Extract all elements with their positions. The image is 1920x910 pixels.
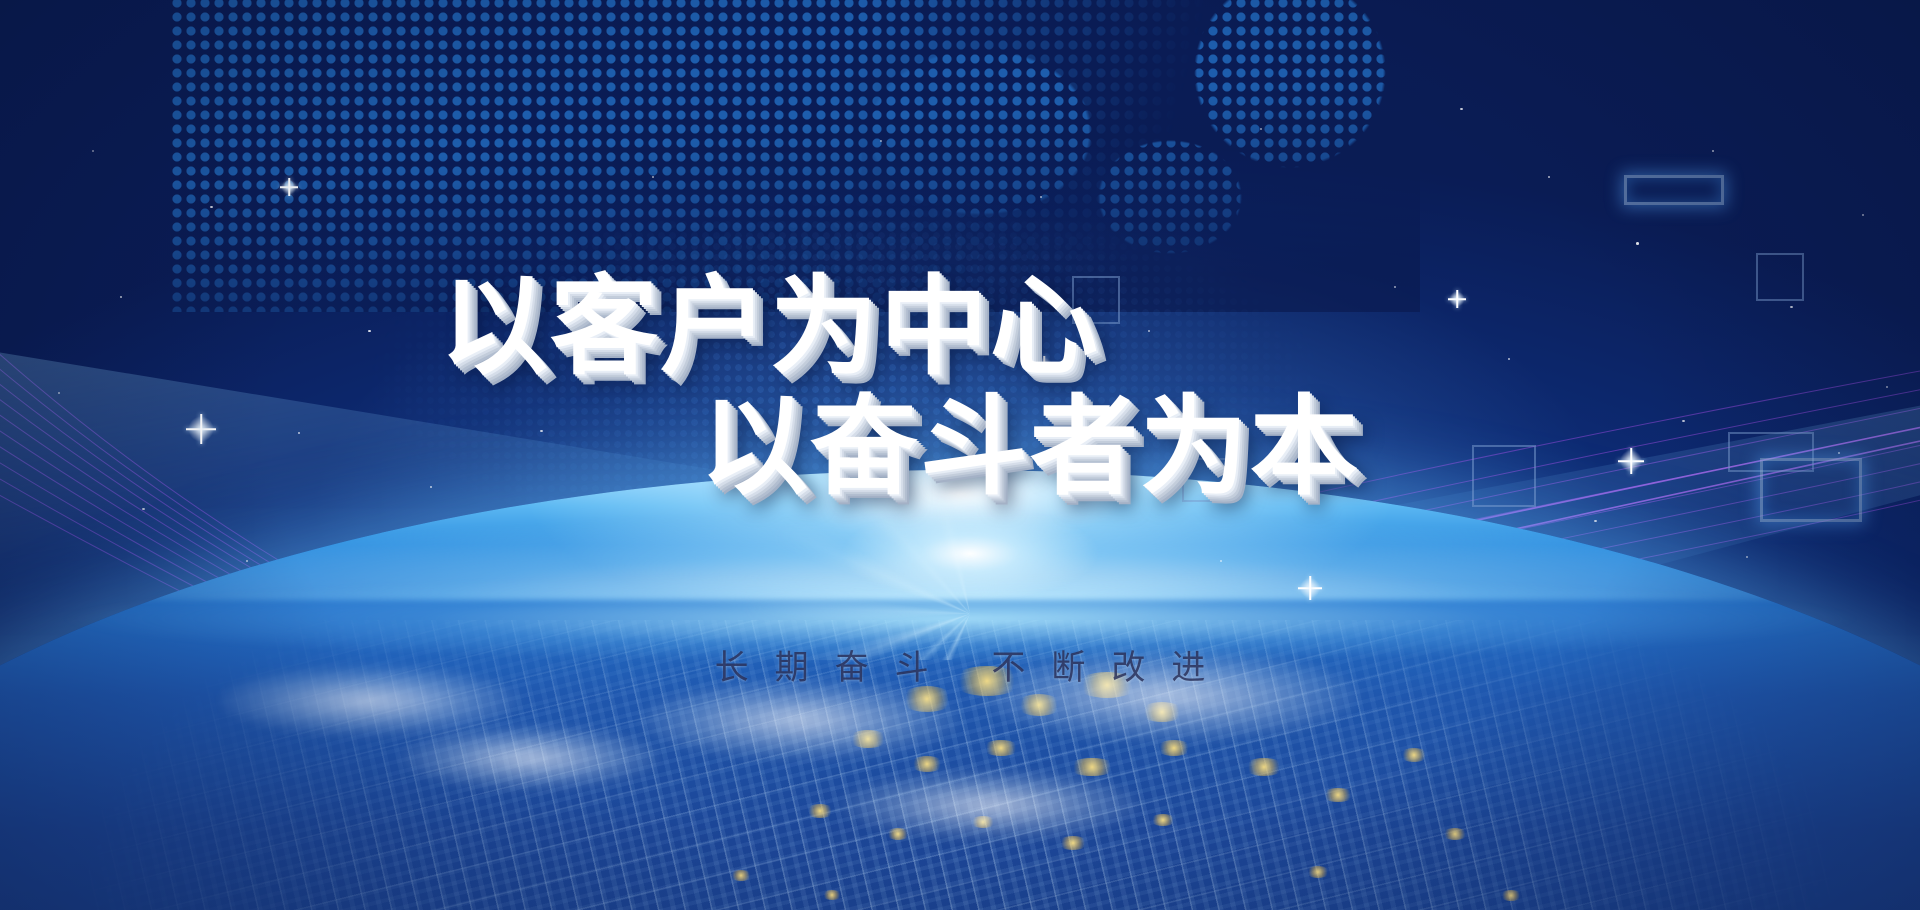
sparkle-icon [1034,356,1054,376]
decorative-rect-left-mid [1072,276,1120,324]
earth-globe [0,470,1920,910]
aerial-city-grid [0,620,1920,910]
decorative-rect-small-upper [1756,253,1804,301]
poster-canvas: 以客户为中心 以奋斗者为本 长期奋斗 不断改进 [0,0,1920,910]
dotted-world-map-fade [170,0,1420,312]
decorative-rect-upper-right [1728,432,1814,472]
earth-atmosphere-rim [0,470,1920,600]
headline-line-1: 以客户为中心 [440,240,1100,396]
sparkle-icon [186,414,216,444]
decorative-rect-wide-top [1624,175,1724,205]
dotted-world-map [170,0,1420,312]
sparkle-icon [1448,290,1466,308]
sparkle-icon [280,178,298,196]
